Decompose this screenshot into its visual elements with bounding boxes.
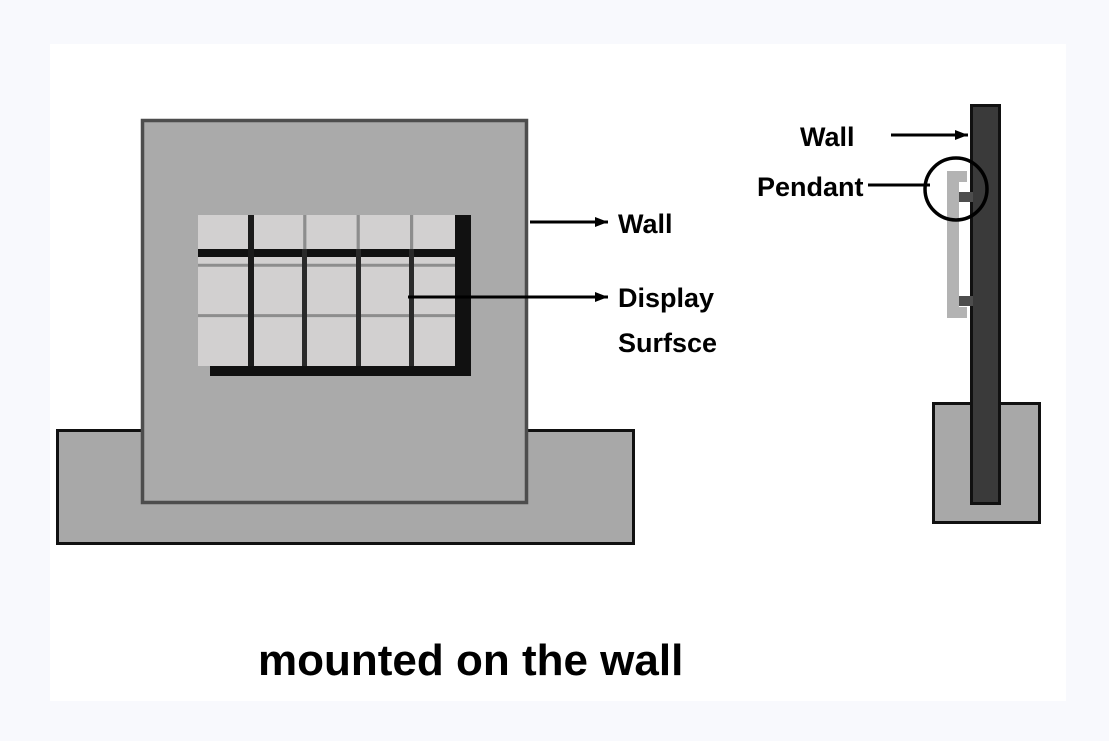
display-frame-bottom-bar bbox=[210, 366, 471, 376]
pendant-bracket-rail bbox=[947, 171, 959, 318]
pendant-tab-upper bbox=[959, 192, 973, 202]
display-surface-backing bbox=[198, 215, 465, 366]
label-display-surface-line1: Display bbox=[618, 283, 714, 313]
tile-emphasis-line bbox=[198, 249, 465, 257]
label-wall-front: Wall bbox=[618, 209, 673, 239]
figure-caption: mounted on the wall bbox=[258, 636, 683, 685]
tile-emphasis-vertical bbox=[302, 249, 307, 366]
diagram-svg: Wall Display Surfsce Wall Pendant mounte… bbox=[0, 0, 1109, 741]
pendant-assembly[interactable] bbox=[947, 171, 973, 318]
label-wall-side: Wall bbox=[800, 122, 855, 152]
front-elevation-view bbox=[58, 121, 634, 544]
side-section-view bbox=[925, 106, 1040, 523]
tile-emphasis-vertical bbox=[409, 249, 414, 366]
pendant-bracket-top-return bbox=[947, 171, 967, 182]
figure-page: Wall Display Surfsce Wall Pendant mounte… bbox=[0, 0, 1109, 741]
label-display-surface-line2: Surfsce bbox=[618, 328, 717, 358]
label-pendant: Pendant bbox=[757, 172, 864, 202]
tile-emphasis-vertical bbox=[356, 249, 361, 366]
pendant-bracket-bottom-return bbox=[947, 307, 967, 318]
tile-emphasis-vertical bbox=[248, 215, 254, 366]
pendant-tab-lower bbox=[959, 296, 973, 306]
display-surface-grid[interactable] bbox=[198, 215, 465, 366]
